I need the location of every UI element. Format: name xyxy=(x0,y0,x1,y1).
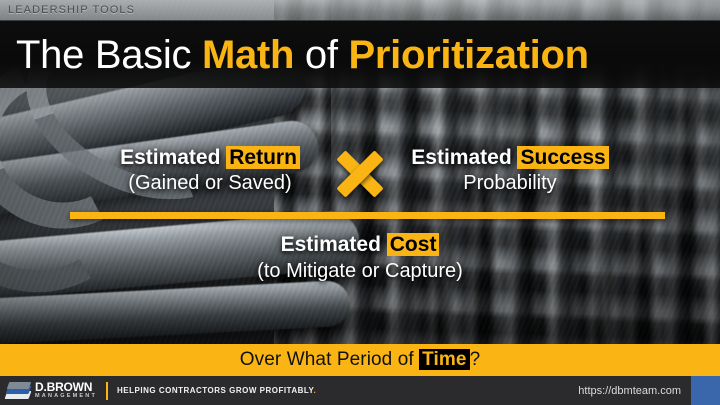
footer-bar: D.BROWN MANAGEMENT HELPING CONTRACTORS G… xyxy=(0,376,720,405)
brand-subname: MANAGEMENT xyxy=(35,394,97,400)
term-return-line1: Estimated Return xyxy=(60,146,360,170)
multiply-icon xyxy=(333,148,387,200)
brand-logo-text: D.BROWN MANAGEMENT xyxy=(35,381,97,400)
term-success-highlight: Success xyxy=(517,146,608,169)
period-text: Over What Period of Time? xyxy=(240,349,480,371)
term-success-line1: Estimated Success xyxy=(360,146,660,170)
stacked-books-icon-layer-3 xyxy=(7,382,32,389)
title-part-2: of xyxy=(294,33,348,77)
brand-name: D.BROWN xyxy=(35,381,97,393)
stacked-books-icon xyxy=(6,382,30,400)
term-cost-highlight: Cost xyxy=(387,233,440,256)
period-prefix: Over What Period of xyxy=(240,349,419,370)
footer-url[interactable]: https://dbmteam.com xyxy=(578,385,681,397)
fraction-divider-line xyxy=(70,212,665,219)
term-cost-line1: Estimated Cost xyxy=(0,232,720,257)
page-title: The Basic Math of Prioritization xyxy=(16,35,589,75)
term-success-line2: Probability xyxy=(360,171,660,195)
brand-logo[interactable]: D.BROWN MANAGEMENT xyxy=(6,381,97,400)
term-estimated-cost: Estimated Cost (to Mitigate or Capture) xyxy=(0,232,720,283)
slide: LEADERSHIP TOOLS The Basic Math of Prior… xyxy=(0,0,720,405)
footer-divider xyxy=(106,382,108,400)
eyebrow-label: LEADERSHIP TOOLS xyxy=(8,4,135,16)
term-estimated-return: Estimated Return (Gained or Saved) xyxy=(60,146,360,195)
term-estimated-success-probability: Estimated Success Probability xyxy=(360,146,660,195)
social-link-icon[interactable] xyxy=(691,376,720,405)
formula-block: Estimated Return (Gained or Saved) Estim… xyxy=(0,88,720,344)
title-highlight-prioritization: Prioritization xyxy=(348,33,588,77)
footer-tagline-dot: . xyxy=(314,386,317,395)
period-suffix: ? xyxy=(470,349,481,370)
term-success-prefix: Estimated xyxy=(411,146,517,169)
term-return-line2: (Gained or Saved) xyxy=(60,171,360,195)
title-band: The Basic Math of Prioritization xyxy=(0,20,720,88)
period-band: Over What Period of Time? xyxy=(0,344,720,376)
title-part-1: The Basic xyxy=(16,33,202,77)
term-return-prefix: Estimated xyxy=(120,146,226,169)
footer-tagline-text: HELPING CONTRACTORS GROW PROFITABLY xyxy=(117,386,313,395)
period-highlight-time: Time xyxy=(419,349,469,370)
title-highlight-math: Math xyxy=(202,33,294,77)
eyebrow-bar: LEADERSHIP TOOLS xyxy=(0,0,720,20)
term-cost-prefix: Estimated xyxy=(281,233,387,256)
term-return-highlight: Return xyxy=(226,146,300,169)
footer-tagline: HELPING CONTRACTORS GROW PROFITABLY. xyxy=(117,386,316,395)
term-cost-line2: (to Mitigate or Capture) xyxy=(0,259,720,283)
